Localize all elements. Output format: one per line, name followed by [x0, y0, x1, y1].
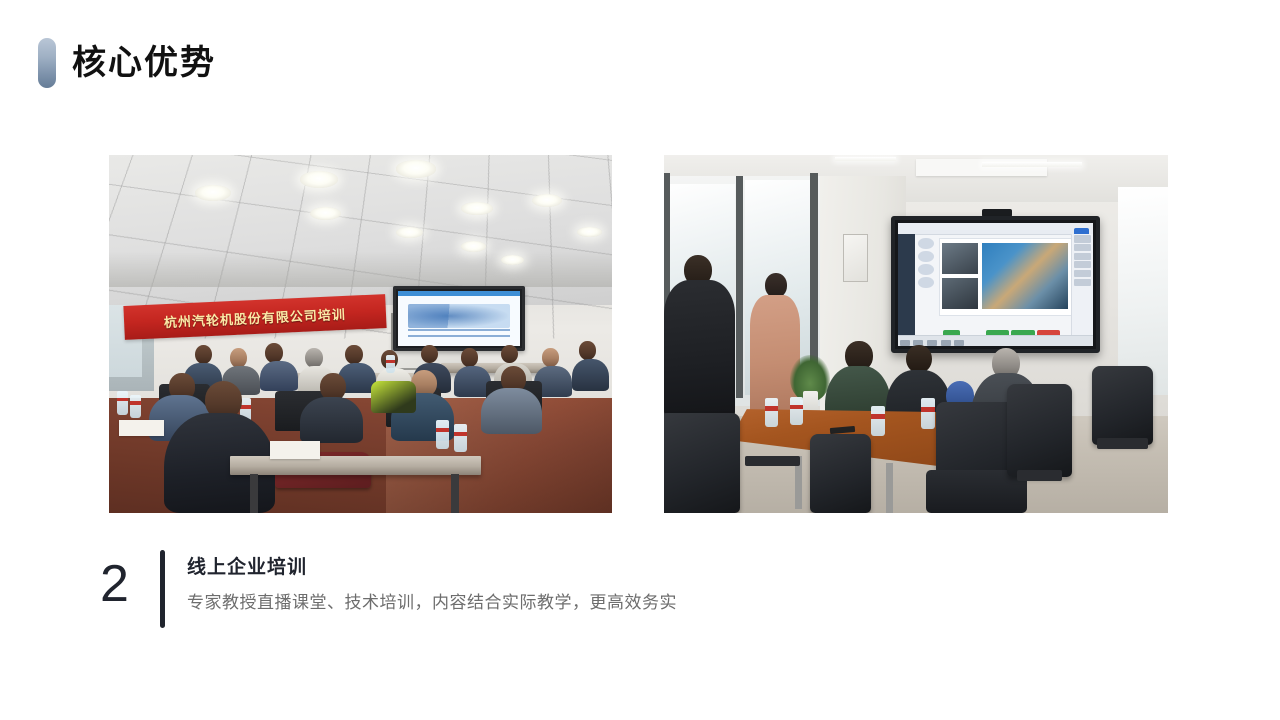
shared-content-area — [939, 238, 1072, 316]
ceiling-light — [310, 207, 341, 220]
desk-leg — [451, 474, 459, 513]
app-right-rail — [1071, 234, 1094, 336]
caption-divider — [160, 550, 165, 628]
photo-row: 杭州汽轮机股份有限公司培训 — [0, 155, 1280, 515]
app-sidebar — [898, 234, 916, 336]
water-bottle — [130, 395, 141, 418]
app-titlebar — [898, 223, 1094, 235]
attendee-torso — [481, 388, 541, 435]
handout-paper — [270, 441, 320, 459]
handout-paper — [119, 420, 164, 436]
ceiling-light — [195, 185, 231, 201]
participant-video-tile — [942, 243, 977, 273]
attendee-head — [421, 345, 438, 364]
photo-offline-classroom-training: 杭州汽轮机股份有限公司培训 — [109, 155, 612, 513]
water-bottle — [117, 391, 128, 414]
ceiling-light — [300, 171, 338, 187]
attendee-torso — [260, 361, 298, 391]
classroom-scene: 杭州汽轮机股份有限公司培训 — [109, 155, 612, 513]
conference-display — [891, 216, 1101, 353]
water-bottle — [386, 355, 395, 373]
water-bottle — [921, 398, 935, 428]
attendee-head — [542, 348, 559, 367]
office-chair-base — [745, 456, 800, 467]
caption-description: 专家教授直播课堂、技术培训，内容结合实际教学，更高效务实 — [187, 591, 677, 615]
water-bottle — [765, 398, 778, 427]
caption-block: 2 线上企业培训 专家教授直播课堂、技术培训，内容结合实际教学，更高效务实 — [100, 548, 677, 628]
pill-marker-icon — [38, 38, 56, 88]
water-bottle — [871, 406, 885, 436]
page-title: 核心优势 — [72, 46, 216, 80]
presentation-screen — [393, 286, 525, 351]
wall-sign-frame — [843, 234, 868, 283]
ceiling-light-strip — [982, 162, 1083, 167]
ceiling-light — [396, 160, 436, 177]
slide-diagram — [408, 304, 510, 328]
ceiling-light — [461, 241, 486, 252]
green-backpack — [371, 381, 416, 413]
attendee-head — [265, 343, 283, 363]
slide-text-lines — [408, 329, 510, 341]
participant-roster — [915, 236, 937, 322]
ceiling-light — [461, 202, 493, 216]
water-bottle — [436, 420, 449, 449]
water-bottle — [454, 424, 467, 453]
os-taskbar — [898, 335, 1094, 346]
caption-number: 2 — [100, 548, 156, 620]
ceiling-soffit — [109, 252, 612, 288]
ceiling-light — [396, 227, 423, 238]
attendee-torso — [572, 359, 610, 391]
office-chair-base — [1097, 438, 1147, 449]
attendee-head — [579, 341, 596, 360]
office-chair-back — [810, 434, 870, 513]
front-desk — [230, 456, 482, 476]
video-conference-ui — [898, 223, 1094, 346]
right-window — [1118, 187, 1168, 395]
participant-video-tile — [942, 278, 977, 308]
attendee-head — [461, 348, 478, 367]
attendee-head — [195, 345, 212, 364]
table-leg — [886, 463, 894, 513]
ceiling-light-strip — [835, 157, 895, 161]
water-bottle — [790, 397, 803, 426]
office-chair-back — [664, 413, 740, 513]
office-chair-back — [1007, 384, 1073, 477]
attendee-head — [345, 345, 362, 364]
main-video-feed — [982, 243, 1068, 309]
ceiling-light — [577, 227, 602, 238]
window-mullion — [736, 176, 743, 398]
office-chair-back — [1092, 366, 1152, 445]
desk-leg — [250, 474, 258, 513]
attendee-torso — [300, 397, 363, 444]
attendee-body — [664, 280, 735, 423]
office-chair-base — [1017, 470, 1062, 481]
screen-content — [398, 291, 520, 346]
caption-body: 线上企业培训 专家教授直播课堂、技术培训，内容结合实际教学，更高效务实 — [187, 548, 677, 614]
photo-online-conference-room — [664, 155, 1168, 513]
conference-room-scene — [664, 155, 1168, 513]
slide-header: 核心优势 — [38, 38, 216, 88]
caption-title: 线上企业培训 — [187, 554, 677, 583]
